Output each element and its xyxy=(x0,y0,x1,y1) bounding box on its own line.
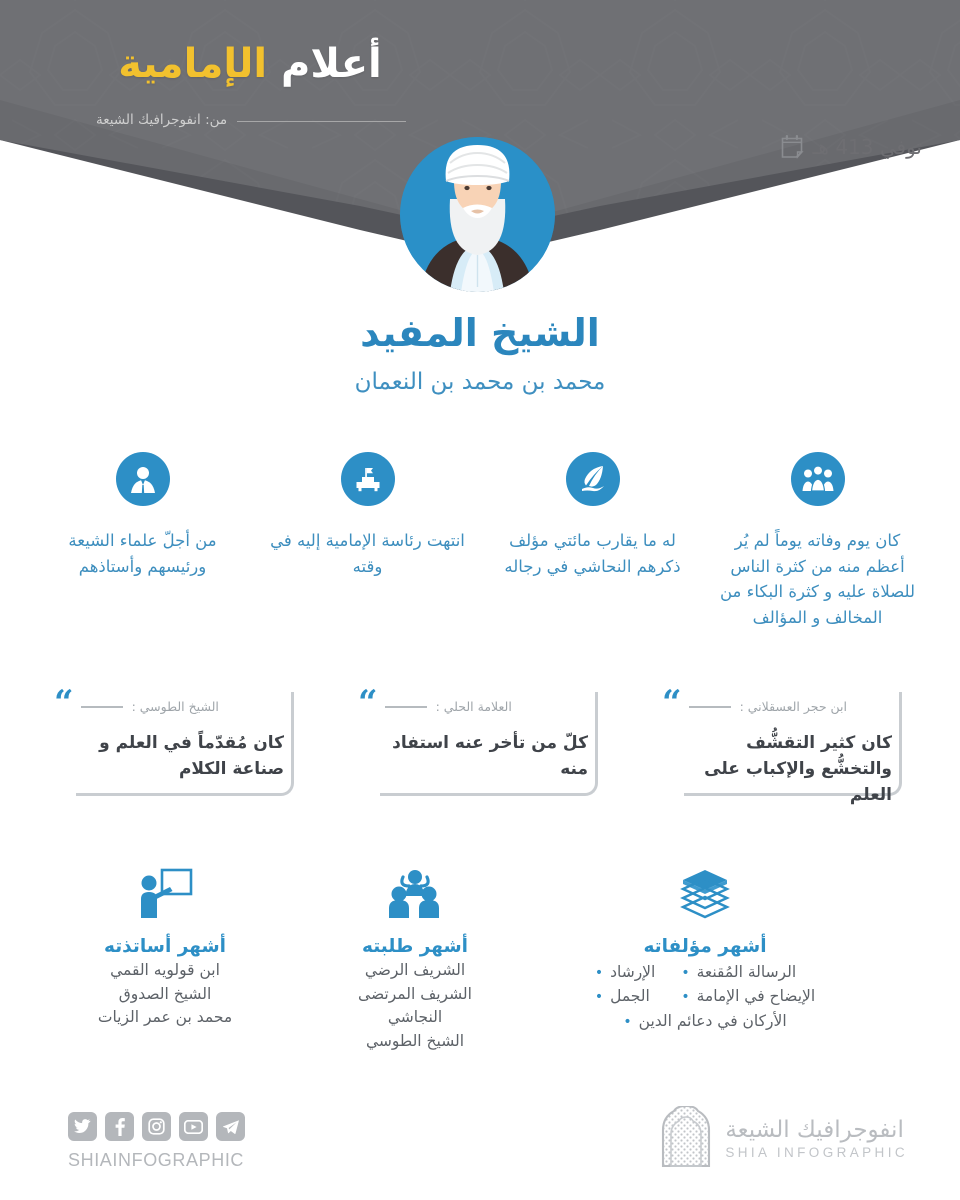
mosque-arch-pattern-logo xyxy=(659,1106,713,1172)
list-item-label: الرسالة المُقنعة xyxy=(697,960,797,984)
list-item: الشريف المرتضى xyxy=(358,983,472,1007)
person-name-block: الشيخ المفيد محمد بن محمد بن النعمان xyxy=(0,310,960,397)
feature-item: كان يوم وفاته يوماً لم يُر أعظم منه من ك… xyxy=(715,452,920,630)
quote-text: كان كثير التقشُّف والتخشُّع والإكباب على… xyxy=(662,730,892,809)
students-column: أشهر طلبته الشريف الرضي الشريف المرتضى ا… xyxy=(290,858,540,1053)
students-title: أشهر طلبته xyxy=(362,936,468,957)
avatar-illustration xyxy=(400,137,555,292)
quill-pen-icon xyxy=(566,452,620,506)
feature-item: انتهت رئاسة الإمامية إليه في وقته xyxy=(265,452,470,630)
students-items: الشريف الرضي الشريف المرتضى النجاشي الشي… xyxy=(358,959,472,1053)
bullet-icon: • xyxy=(681,990,689,1004)
quote-author: الشيخ الطوسي : xyxy=(132,699,219,714)
footer-logo-english: SHIA INFOGRAPHIC xyxy=(725,1145,908,1160)
youtube-icon[interactable] xyxy=(179,1112,208,1141)
feature-text: له ما يقارب مائتي مؤلف ذكرهم النحاشي في … xyxy=(490,528,695,579)
quote-header: “ ابن حجر العسقلاني : xyxy=(662,698,904,716)
list-item: الشيخ الطوسي xyxy=(358,1030,472,1054)
feature-item: له ما يقارب مائتي مؤلف ذكرهم النحاشي في … xyxy=(490,452,695,630)
bullet-icon: • xyxy=(595,990,603,1004)
footer-logo-arabic: انفوجرافيك الشيعة xyxy=(725,1117,904,1143)
user-silhouette-icon xyxy=(116,452,170,506)
list-item: النجاشي xyxy=(358,1006,472,1030)
footer-social-block: SHIAINFOGRAPHIC xyxy=(68,1112,245,1171)
books-stack-icon xyxy=(675,858,735,920)
quotes-row: “ الشيخ الطوسي : كان مُقدّماً في العلم و… xyxy=(40,668,920,802)
list-item-label: الأركان في دعائم الدين xyxy=(639,1009,787,1033)
teacher-whiteboard-icon xyxy=(137,858,193,920)
facebook-icon[interactable] xyxy=(105,1112,134,1141)
quote-author: ابن حجر العسقلاني : xyxy=(740,699,847,714)
infographic-page: أعلام الإمامية من: انفوجرافيك الشيعة توف… xyxy=(0,0,960,1200)
feature-item: من أجلّ علماء الشيعة ورئيسهم وأستاذهم xyxy=(40,452,245,630)
footer-logo: انفوجرافيك الشيعة SHIA INFOGRAPHIC xyxy=(659,1106,908,1172)
telegram-icon[interactable] xyxy=(216,1112,245,1141)
quote-card: “ العلامة الحلي : كلّ من تأخر عنه استفاد… xyxy=(344,668,616,802)
quote-divider xyxy=(689,706,731,708)
list-item: ابن قولويه القمي xyxy=(98,959,232,983)
person-full-name: محمد بن محمد بن النعمان xyxy=(0,368,960,398)
list-item: الشيخ الصدوق xyxy=(98,983,232,1007)
quote-text: كلّ من تأخر عنه استفاد منه xyxy=(358,730,588,783)
list-item: •الرسالة المُقنعة xyxy=(681,960,815,984)
list-item-label: الإرشاد xyxy=(610,960,655,984)
quote-header: “ الشيخ الطوسي : xyxy=(54,698,296,716)
list-item: •الإرشاد xyxy=(595,960,656,984)
feature-text: من أجلّ علماء الشيعة ورئيسهم وأستاذهم xyxy=(40,528,245,579)
list-item: •الإيضاح في الإمامة xyxy=(681,984,815,1008)
calendar-icon xyxy=(780,134,804,159)
works-title: أشهر مؤلفاته xyxy=(643,936,766,957)
quote-text: كان مُقدّماً في العلم و صناعة الكلام xyxy=(54,730,284,783)
twitter-icon[interactable] xyxy=(68,1112,97,1141)
teachers-items: ابن قولويه القمي الشيخ الصدوق محمد بن عم… xyxy=(98,959,232,1030)
quote-card: “ الشيخ الطوسي : كان مُقدّماً في العلم و… xyxy=(40,668,312,802)
list-item-label: الإيضاح في الإمامة xyxy=(697,984,816,1008)
works-items: •الرسالة المُقنعة •الإرشاد •الإيضاح في ا… xyxy=(595,960,815,1033)
quote-divider xyxy=(385,706,427,708)
social-handle: SHIAINFOGRAPHIC xyxy=(68,1150,245,1171)
list-item: •الجمل xyxy=(595,984,656,1008)
pulpit-flag-icon xyxy=(341,452,395,506)
social-icons-row xyxy=(68,1112,245,1141)
lists-row: أشهر أساتذته ابن قولويه القمي الشيخ الصد… xyxy=(40,858,920,1053)
quote-header: “ العلامة الحلي : xyxy=(358,698,600,716)
quote-mark-icon: “ xyxy=(54,692,72,716)
students-group-icon xyxy=(387,858,443,920)
list-item: الشريف الرضي xyxy=(358,959,472,983)
bullet-icon: • xyxy=(595,966,603,980)
feature-text: كان يوم وفاته يوماً لم يُر أعظم منه من ك… xyxy=(715,528,920,630)
death-date-text: توفي 413 هـ xyxy=(813,135,922,159)
teachers-column: أشهر أساتذته ابن قولويه القمي الشيخ الصد… xyxy=(40,858,290,1053)
quote-mark-icon: “ xyxy=(662,692,680,716)
quote-card: “ ابن حجر العسقلاني : كان كثير التقشُّف … xyxy=(648,668,920,802)
works-column: أشهر مؤلفاته •الرسالة المُقنعة •الإرشاد … xyxy=(540,858,870,1053)
quote-mark-icon: “ xyxy=(358,692,376,716)
bullet-icon: • xyxy=(623,1015,631,1029)
quote-author: العلامة الحلي : xyxy=(436,699,512,714)
instagram-icon[interactable] xyxy=(142,1112,171,1141)
teachers-title: أشهر أساتذته xyxy=(104,936,226,957)
features-row: من أجلّ علماء الشيعة ورئيسهم وأستاذهم ان… xyxy=(40,452,920,630)
death-date: توفي 413 هـ xyxy=(780,134,922,159)
bullet-icon: • xyxy=(681,966,689,980)
quote-divider xyxy=(81,706,123,708)
group-people-icon xyxy=(791,452,845,506)
footer-logo-text: انفوجرافيك الشيعة SHIA INFOGRAPHIC xyxy=(725,1118,908,1160)
list-item: محمد بن عمر الزيات xyxy=(98,1006,232,1030)
page-title: الشيخ المفيد xyxy=(0,310,960,358)
list-item-label: الجمل xyxy=(610,984,650,1008)
scholar-portrait-avatar xyxy=(400,137,555,292)
list-item: •الأركان في دعائم الدين xyxy=(595,1009,815,1033)
feature-text: انتهت رئاسة الإمامية إليه في وقته xyxy=(265,528,470,579)
